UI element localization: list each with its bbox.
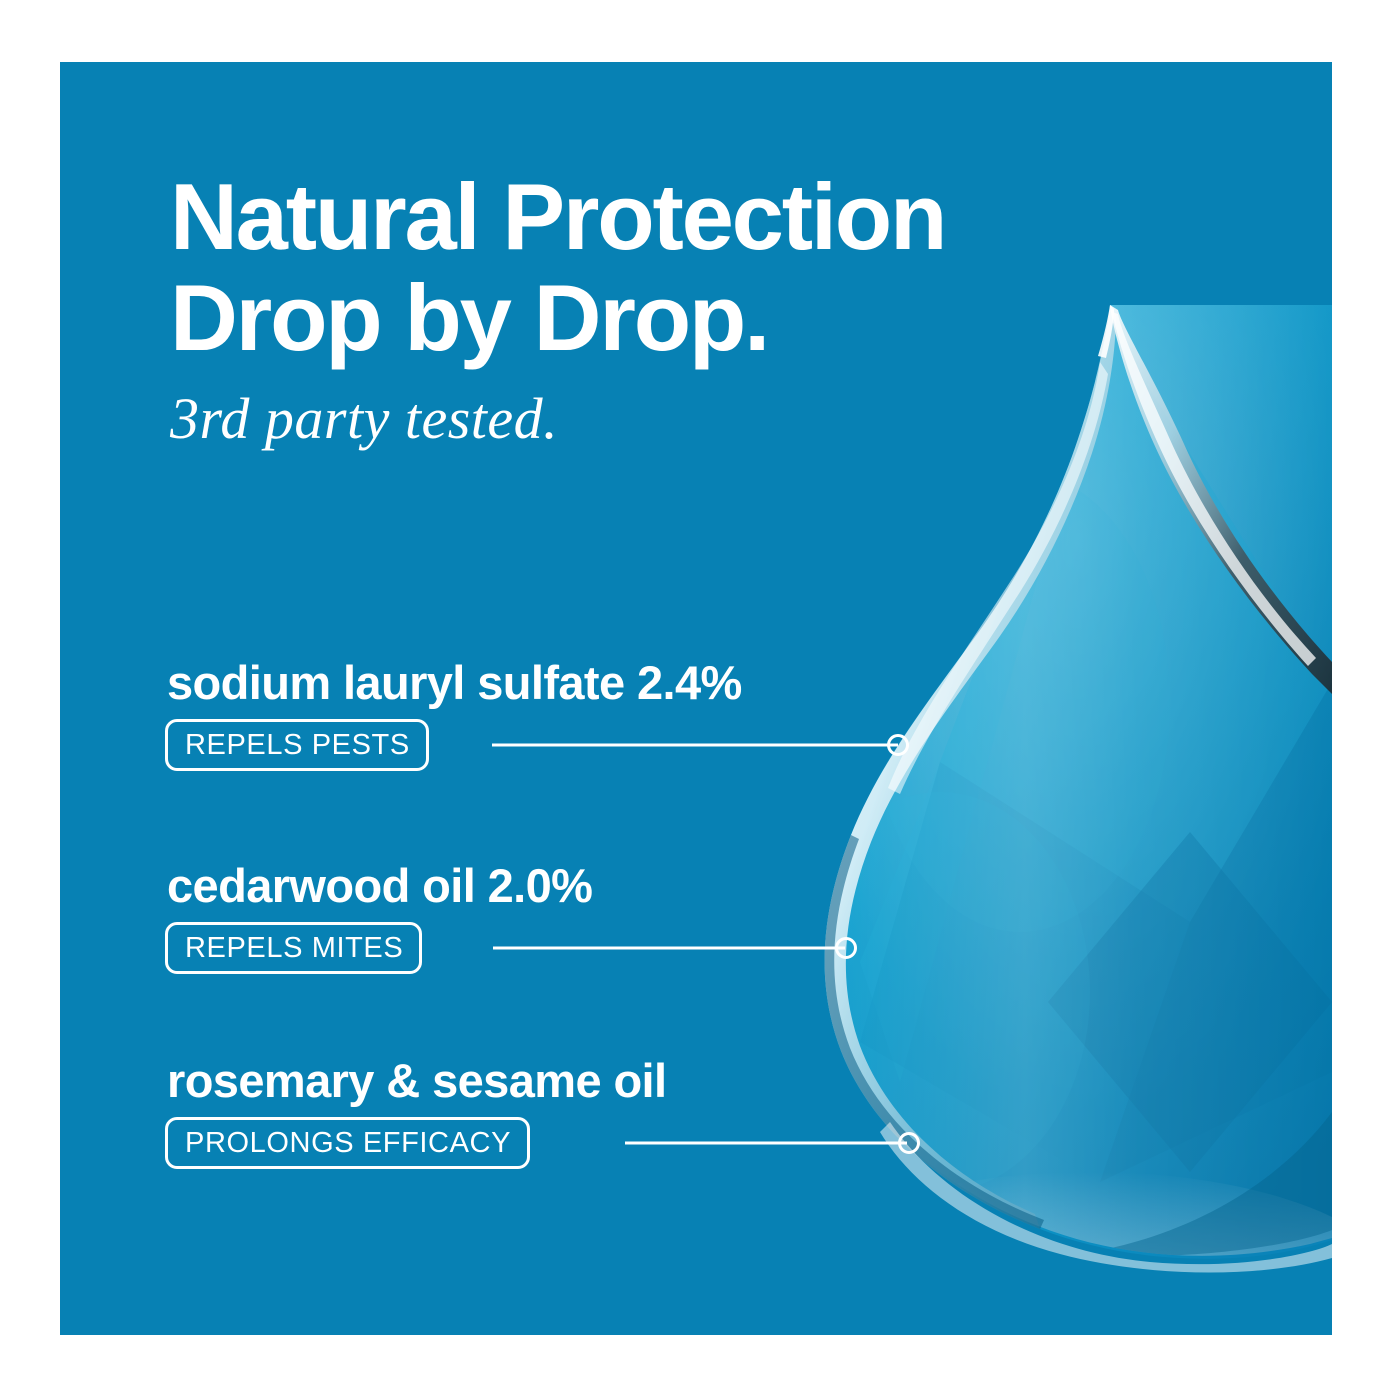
droplet-body-group	[780, 305, 1332, 1335]
page-title: Natural Protection Drop by Drop.	[170, 167, 1260, 368]
leader-line	[625, 1142, 907, 1145]
headline-block: Natural Protection Drop by Drop. 3rd par…	[170, 167, 1260, 448]
headline-line-2: Drop by Drop.	[170, 268, 1260, 369]
ingredient-name: cedarwood oil 2.0%	[167, 862, 592, 909]
badge-row: PROLONGS EFFICACY	[165, 1117, 666, 1169]
droplet-facets	[780, 305, 1332, 1335]
droplet-edge-shadow	[825, 835, 1044, 1229]
leader-endpoint-icon	[835, 937, 857, 959]
droplet-bottom-highlight	[880, 1122, 1332, 1273]
badge-row: REPELS PESTS	[165, 719, 742, 771]
leader-endpoint-icon	[898, 1132, 920, 1154]
ingredient-name: sodium lauryl sulfate 2.4%	[167, 659, 742, 706]
ingredient-name: rosemary & sesame oil	[167, 1057, 666, 1104]
leader-endpoint-icon	[887, 734, 909, 756]
callout-rosemary-sesame-oil: rosemary & sesame oil PROLONGS EFFICACY	[165, 1057, 666, 1169]
callout-sodium-lauryl-sulfate: sodium lauryl sulfate 2.4% REPELS PESTS	[165, 659, 742, 771]
headline-line-1: Natural Protection	[170, 164, 945, 269]
leader-line	[493, 947, 845, 950]
product-benefit-poster: Natural Protection Drop by Drop. 3rd par…	[0, 0, 1400, 1400]
badge-row: REPELS MITES	[165, 922, 592, 974]
leader-line	[492, 744, 898, 747]
callout-cedarwood-oil: cedarwood oil 2.0% REPELS MITES	[165, 862, 592, 974]
benefit-badge: PROLONGS EFFICACY	[165, 1117, 530, 1169]
benefit-badge: REPELS MITES	[165, 922, 422, 974]
benefit-badge: REPELS PESTS	[165, 719, 429, 771]
blue-panel: Natural Protection Drop by Drop. 3rd par…	[60, 62, 1332, 1335]
subheadline: 3rd party tested.	[170, 390, 1260, 448]
